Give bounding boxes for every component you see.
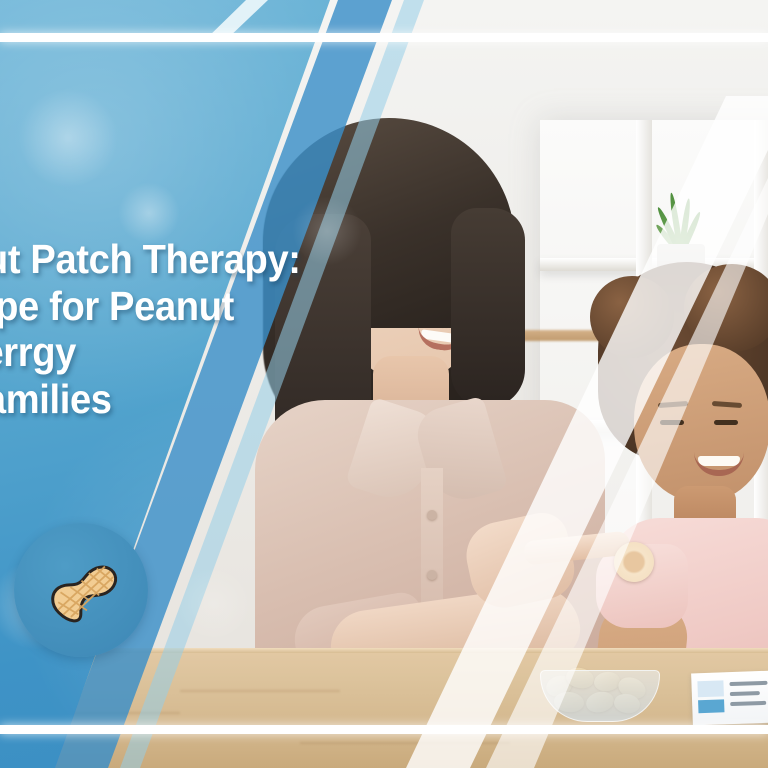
top-divider-rule bbox=[0, 33, 768, 42]
bokeh-circle bbox=[18, 88, 118, 188]
bokeh-circle bbox=[118, 182, 180, 244]
headline-line-3: llerrgy bbox=[0, 329, 362, 376]
info-card bbox=[691, 671, 768, 726]
banner-image: nut Patch Therapy: lope for Peanut llerr… bbox=[0, 0, 768, 768]
card-text-line bbox=[729, 681, 767, 686]
headline-line-4: Families bbox=[0, 376, 362, 423]
mother-shirt-button bbox=[427, 570, 437, 580]
card-text-line bbox=[730, 691, 760, 696]
card-text-line bbox=[730, 701, 766, 706]
headline-line-1: nut Patch Therapy: bbox=[0, 236, 362, 283]
bottom-divider-rule bbox=[0, 725, 768, 734]
page-title: nut Patch Therapy: lope for Peanut llerr… bbox=[0, 236, 362, 423]
mother-hair-strand bbox=[451, 208, 525, 408]
card-swatch bbox=[698, 699, 724, 713]
table-grain bbox=[180, 690, 340, 692]
mother-shirt-button bbox=[427, 510, 437, 520]
headline-line-2: lope for Peanut bbox=[0, 283, 362, 330]
peanut-icon bbox=[30, 542, 131, 637]
card-swatch bbox=[697, 680, 724, 697]
peanut-badge bbox=[14, 523, 148, 657]
bokeh-circle bbox=[176, 566, 252, 642]
child-eye bbox=[714, 420, 738, 425]
